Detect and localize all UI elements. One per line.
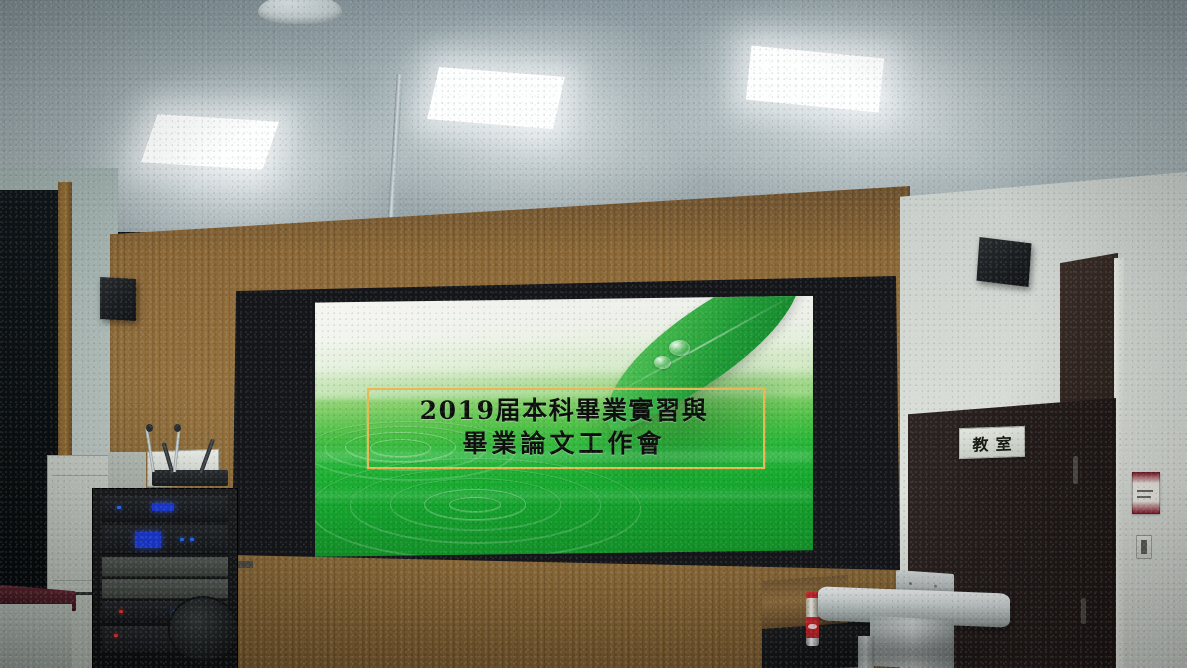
screen-brand-tag bbox=[237, 561, 253, 568]
projection-screen-assembly[interactable]: 2019届本科畢業實習與 畢業論文工作會 bbox=[232, 276, 900, 576]
light-switch[interactable] bbox=[1136, 535, 1152, 559]
podium-shadow bbox=[790, 628, 1030, 668]
presentation-slide: 2019届本科畢業實習與 畢業論文工作會 bbox=[315, 296, 813, 557]
door-handle-lower[interactable] bbox=[1081, 598, 1086, 624]
cable-spool bbox=[168, 596, 238, 662]
slide-title: 2019届本科畢業實習與 畢業論文工作會 bbox=[367, 388, 761, 465]
slide-title-line-2: 畢業論文工作會 bbox=[462, 427, 665, 460]
water-droplet-icon bbox=[669, 340, 690, 356]
ceiling-light-center bbox=[427, 67, 565, 129]
microphone-head-icon bbox=[174, 424, 181, 432]
classroom-door-sign: 教室 bbox=[959, 426, 1025, 459]
water-droplet-icon bbox=[654, 356, 671, 369]
wall-speaker-right bbox=[976, 237, 1031, 287]
microphone-head-icon bbox=[146, 424, 153, 432]
ceiling-light-right bbox=[746, 46, 884, 113]
wall-speaker-left bbox=[100, 277, 136, 321]
wall-notice bbox=[1132, 472, 1160, 514]
slide-title-line-1: 2019届本科畢業實習與 bbox=[420, 394, 709, 427]
classroom-scene: 2019届本科畢業實習與 畢業論文工作會 教室 bbox=[0, 0, 1187, 668]
table-front-panel bbox=[0, 604, 72, 668]
door-handle[interactable] bbox=[1073, 456, 1078, 484]
rack-display bbox=[152, 503, 174, 511]
ceiling-light-left bbox=[141, 114, 279, 170]
amplifier-display bbox=[135, 532, 161, 548]
wireless-router bbox=[152, 470, 228, 486]
rack-unit-light bbox=[102, 557, 229, 577]
water-ripple bbox=[449, 497, 501, 512]
smoke-detector-icon bbox=[258, 0, 342, 24]
